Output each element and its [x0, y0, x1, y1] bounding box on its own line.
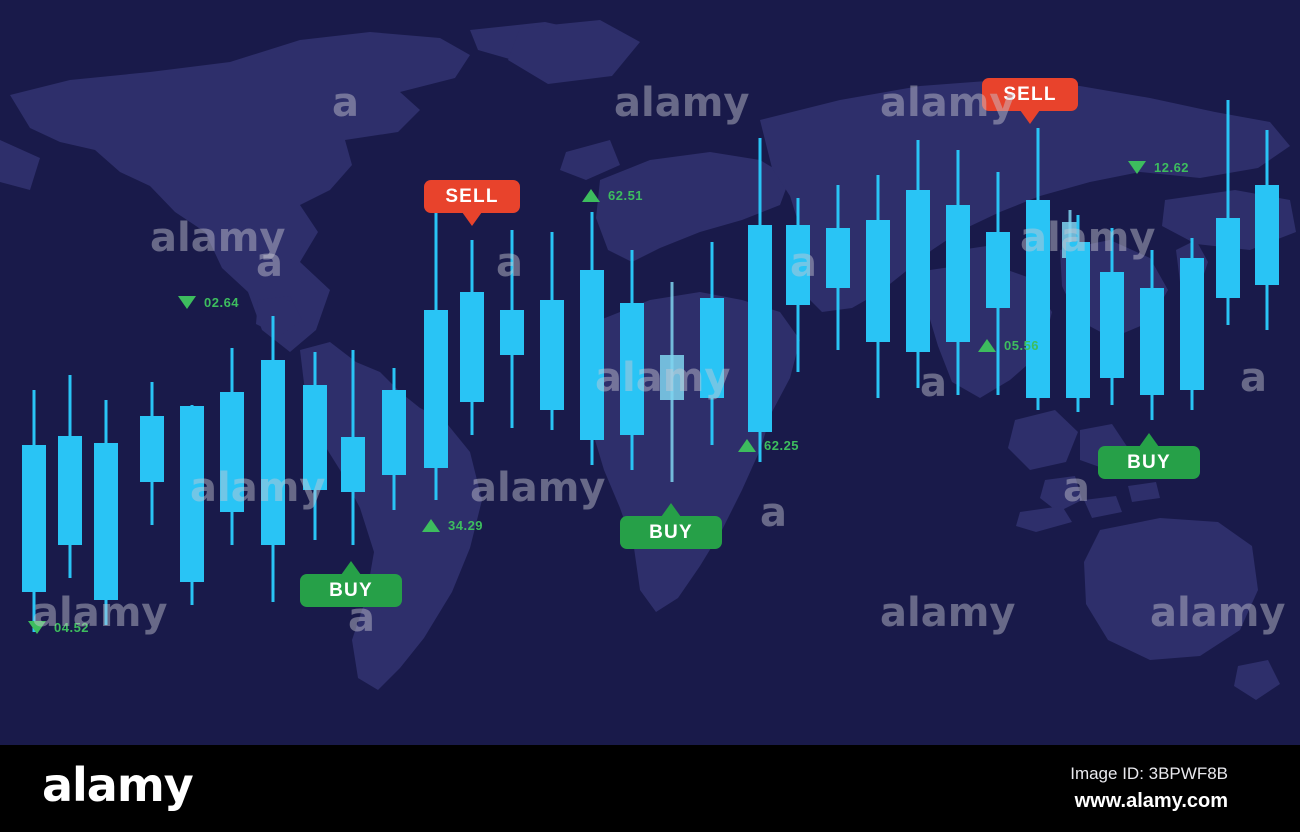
triangle-up-icon	[978, 339, 996, 352]
candle-body	[540, 300, 564, 410]
candlestick	[826, 185, 850, 350]
candlestick	[261, 316, 285, 602]
candle-body	[500, 310, 524, 355]
alamy-watermark: a	[1063, 465, 1090, 511]
candle-body	[58, 436, 82, 545]
candlestick	[341, 350, 365, 545]
price-tag: 02.64	[178, 295, 239, 310]
signal-label: BUY	[649, 522, 693, 544]
triangle-down-icon	[28, 621, 46, 634]
triangle-down-icon	[178, 296, 196, 309]
candlestick	[500, 230, 524, 428]
candlestick	[220, 348, 244, 545]
alamy-watermark: alamy	[470, 465, 605, 511]
candlestick	[460, 240, 484, 435]
candle-body	[303, 385, 327, 490]
candlestick	[94, 400, 118, 625]
candlestick	[382, 368, 406, 510]
candlestick	[1026, 128, 1050, 410]
signal-label: SELL	[1003, 84, 1056, 106]
candlestick	[866, 175, 890, 398]
price-value: 62.25	[764, 438, 799, 453]
candle-body	[1026, 200, 1050, 398]
sell-signal-badge[interactable]: SELL	[424, 180, 520, 213]
candle-body	[94, 443, 118, 600]
triangle-up-icon	[582, 189, 600, 202]
website-label: www.alamy.com	[1075, 790, 1228, 813]
candlestick	[140, 382, 164, 525]
price-value: 04.52	[54, 620, 89, 635]
triangle-up-icon	[422, 519, 440, 532]
badge-pointer-icon	[462, 212, 482, 226]
price-tag: 05.56	[978, 338, 1039, 353]
buy-signal-badge[interactable]: BUY	[1098, 446, 1200, 479]
candlestick	[1255, 130, 1279, 330]
candlestick	[946, 150, 970, 395]
image-id-label: Image ID: 3BPWF8B	[1070, 764, 1228, 784]
alamy-watermark: alamy	[1150, 590, 1285, 636]
candlestick	[58, 375, 82, 578]
candle-body	[986, 232, 1010, 308]
alamy-footer-bar: alamy Image ID: 3BPWF8B www.alamy.com	[0, 745, 1300, 832]
candlestick	[700, 242, 724, 445]
candlestick	[540, 232, 564, 430]
candle-body	[580, 270, 604, 440]
badge-pointer-icon	[341, 561, 361, 575]
price-value: 05.56	[1004, 338, 1039, 353]
candle-body	[866, 220, 890, 342]
candle-body	[220, 392, 244, 512]
badge-pointer-icon	[1139, 433, 1159, 447]
alamy-watermark: a	[1240, 355, 1267, 401]
alamy-watermark: alamy	[614, 80, 749, 126]
alamy-watermark: a	[760, 490, 787, 536]
price-tag: 62.25	[738, 438, 799, 453]
price-value: 02.64	[204, 295, 239, 310]
candle-body	[906, 190, 930, 352]
candlestick	[580, 212, 604, 465]
badge-pointer-icon	[1020, 110, 1040, 124]
candle-body	[748, 225, 772, 432]
price-value: 34.29	[448, 518, 483, 533]
price-value: 12.62	[1154, 160, 1189, 175]
signal-label: SELL	[445, 186, 498, 208]
screenshot-root: SELLSELLBUYBUYBUY 04.5202.6434.2962.5162…	[0, 0, 1300, 832]
price-value: 62.51	[608, 188, 643, 203]
price-tag: 04.52	[28, 620, 89, 635]
candle-body	[261, 360, 285, 545]
candle-body	[424, 310, 448, 468]
candlestick	[1180, 238, 1204, 410]
candlestick	[986, 172, 1010, 395]
candlestick	[786, 198, 810, 372]
candle-body	[700, 298, 724, 398]
candlestick	[22, 390, 46, 632]
buy-signal-badge[interactable]: BUY	[300, 574, 402, 607]
candle-body	[1216, 218, 1240, 298]
buy-signal-badge[interactable]: BUY	[620, 516, 722, 549]
alamy-logo: alamy	[42, 758, 193, 812]
candle-body	[140, 416, 164, 482]
candlestick-chart: SELLSELLBUYBUYBUY 04.5202.6434.2962.5162…	[0, 0, 1300, 745]
candle-body	[1180, 258, 1204, 390]
price-tag: 62.51	[582, 188, 643, 203]
triangle-down-icon	[1128, 161, 1146, 174]
candle-body	[22, 445, 46, 592]
alamy-watermark: a	[332, 80, 359, 126]
candle-body	[341, 437, 365, 492]
candle-body	[620, 303, 644, 435]
candlestick	[180, 405, 204, 605]
alamy-watermark: alamy	[880, 590, 1015, 636]
candle-body	[1255, 185, 1279, 285]
sell-signal-badge[interactable]: SELL	[982, 78, 1078, 111]
candlestick	[1140, 250, 1164, 420]
candle-body	[1066, 242, 1090, 398]
candlestick	[906, 140, 930, 388]
badge-pointer-icon	[661, 503, 681, 517]
candle-body	[460, 292, 484, 402]
candle-body	[786, 225, 810, 305]
alamy-watermark: a	[256, 240, 283, 286]
candle-body	[1140, 288, 1164, 395]
candle-body	[660, 355, 684, 400]
candlestick	[748, 138, 772, 462]
candlestick	[1216, 100, 1240, 325]
candle-body	[180, 406, 204, 582]
candlestick	[424, 192, 448, 500]
price-tag: 34.29	[422, 518, 483, 533]
signal-label: BUY	[329, 580, 373, 602]
alamy-watermark: alamy	[150, 215, 285, 261]
candlestick	[1066, 215, 1090, 412]
candlestick	[303, 352, 327, 540]
candle-body	[1100, 272, 1124, 378]
triangle-up-icon	[738, 439, 756, 452]
candle-body	[946, 205, 970, 342]
candle-body	[826, 228, 850, 288]
candlestick	[660, 282, 684, 482]
price-tag: 12.62	[1128, 160, 1189, 175]
stock-chart-image: SELLSELLBUYBUYBUY 04.5202.6434.2962.5162…	[0, 0, 1300, 745]
candle-body	[382, 390, 406, 475]
candlestick	[1100, 228, 1124, 405]
candlestick	[620, 250, 644, 470]
signal-label: BUY	[1127, 452, 1171, 474]
